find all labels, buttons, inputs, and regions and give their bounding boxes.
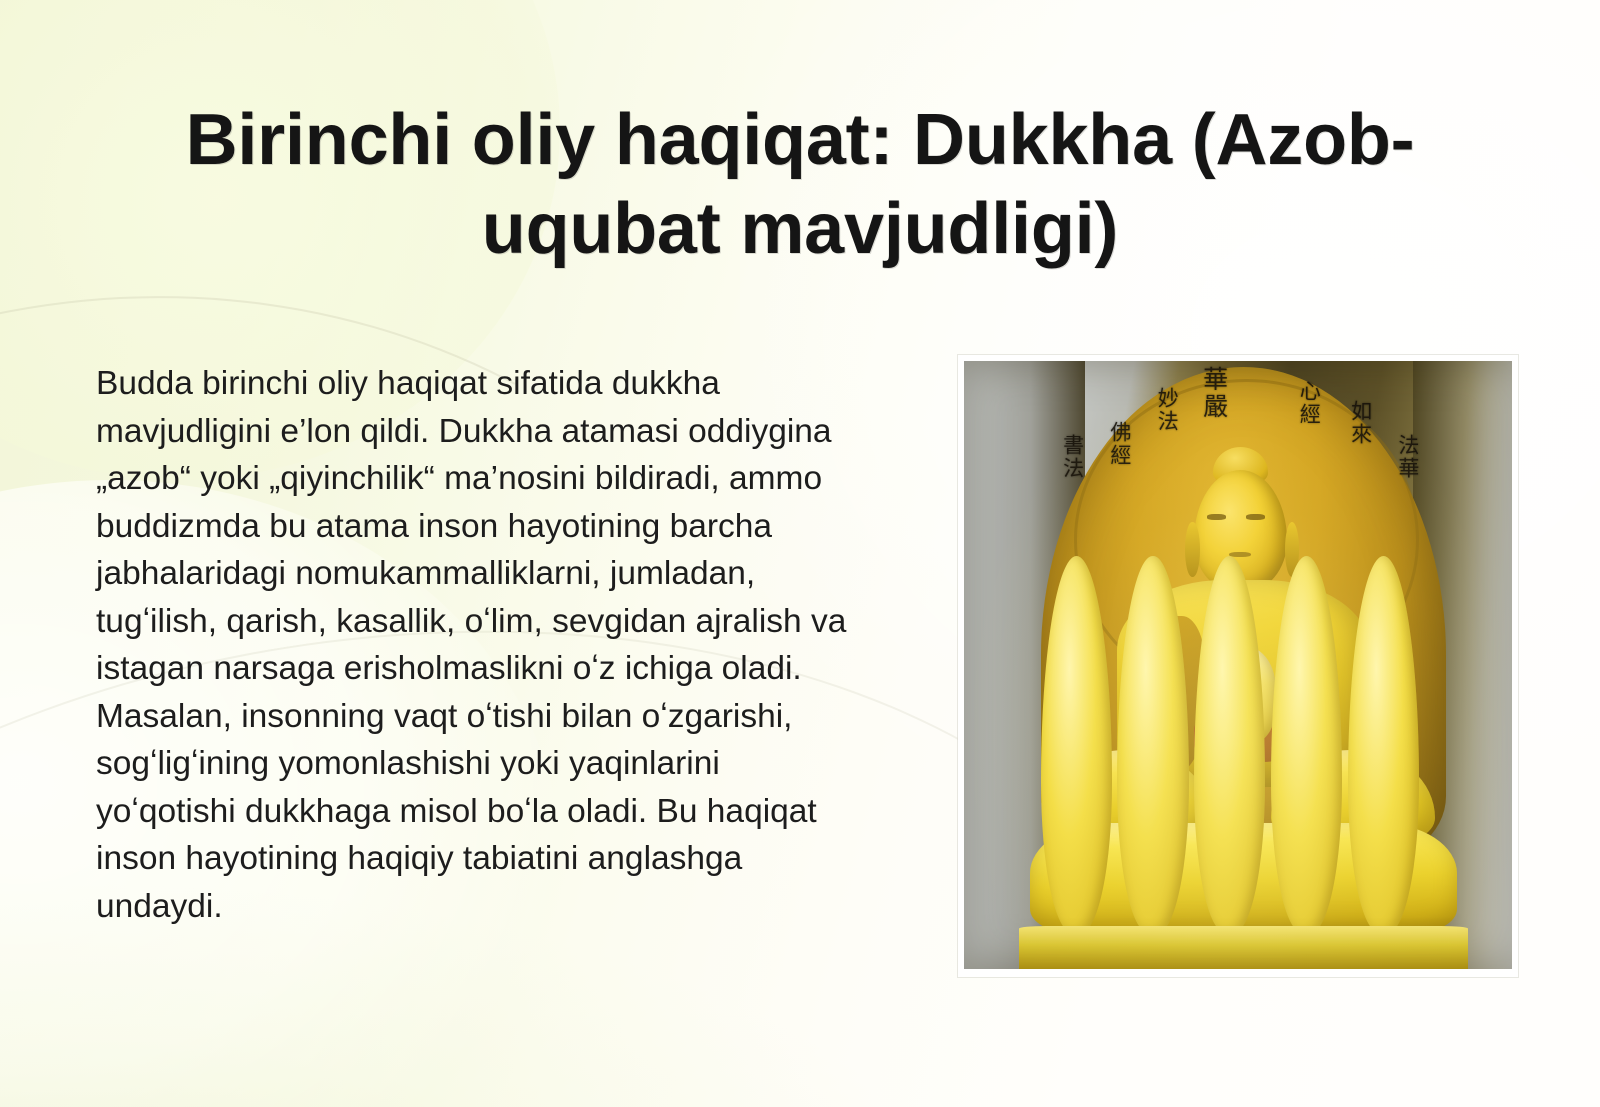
slide-body-text: Budda birinchi oliy haqiqat sifatida duk…	[96, 360, 941, 930]
slide: Birinchi oliy haqiqat: Dukkha (Azob-uqub…	[0, 0, 1600, 1107]
buddha-eye-left	[1207, 514, 1226, 519]
calligraphy-column-1: 書法	[1060, 434, 1085, 480]
buddha-eye-right	[1246, 514, 1265, 519]
photo-inner: 書法 佛經 妙法 華嚴 心經 如來 法華	[964, 361, 1512, 969]
calligraphy-column-4: 華嚴	[1202, 366, 1227, 420]
slide-title: Birinchi oliy haqiqat: Dukkha (Azob-uqub…	[130, 96, 1470, 273]
buddha-statue-photo: 書法 佛經 妙法 華嚴 心經 如來 法華	[958, 355, 1518, 977]
calligraphy-column-3: 妙法	[1154, 387, 1179, 433]
calligraphy-column-5: 心經	[1296, 380, 1321, 426]
pedestal-base-plate	[1019, 926, 1468, 969]
calligraphy-column-7: 法華	[1395, 434, 1420, 480]
calligraphy-column-6: 如來	[1348, 400, 1373, 446]
buddha-ear-left	[1185, 522, 1199, 577]
calligraphy-column-2: 佛經	[1107, 421, 1132, 467]
